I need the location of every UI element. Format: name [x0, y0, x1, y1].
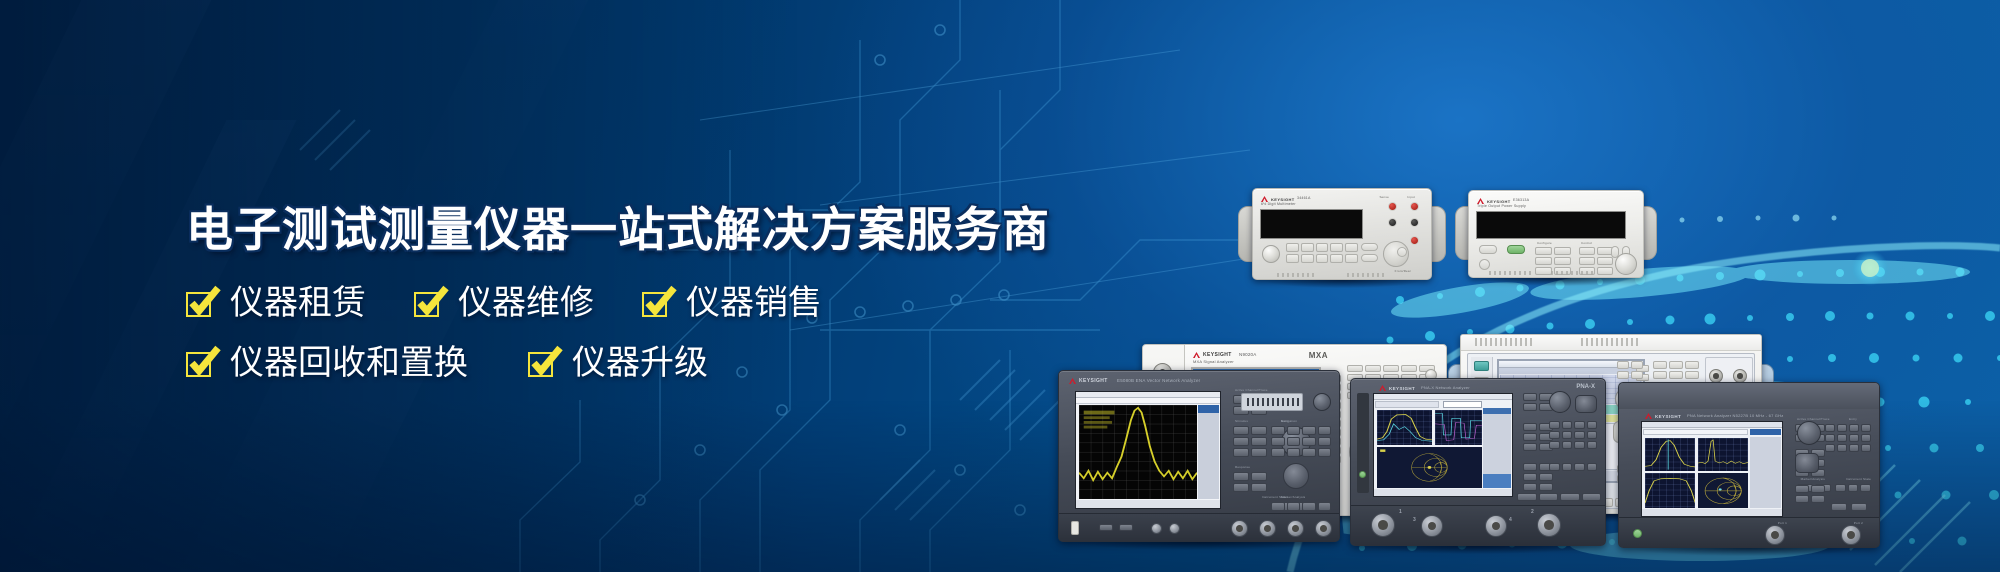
feature-label: 仪器维修 — [458, 286, 594, 320]
checkbox-checked-icon — [186, 289, 214, 317]
feature-row-1: 仪器租赁 仪器维修 仪器销售 — [186, 286, 1050, 320]
instrument-e5080b: KEYSIGHT E5080B ENA Vector Network Analy… — [1058, 370, 1340, 542]
checkbox-checked-icon — [528, 349, 556, 377]
feature-label: 仪器升级 — [572, 346, 708, 380]
page-title: 电子测试测量仪器一站式解决方案服务商 — [186, 206, 1050, 253]
feature-item-recycle-exchange[interactable]: 仪器回收和置换 — [186, 346, 468, 380]
checkbox-checked-icon — [186, 349, 214, 377]
feature-label: 仪器租赁 — [230, 286, 366, 320]
feature-row-2: 仪器回收和置换 仪器升级 — [186, 346, 1050, 380]
feature-item-rental[interactable]: 仪器租赁 — [186, 286, 366, 320]
instrument-power-supply: KEYSIGHT E36313A Triple Output Power Sup… — [1468, 190, 1644, 278]
instrument-digital-multimeter: KEYSIGHT 34461A 6½ Digit Multimeter Sens… — [1252, 188, 1432, 280]
hero-banner: KEYSIGHT 34461A 6½ Digit Multimeter Sens… — [0, 0, 2000, 572]
feature-list: 仪器租赁 仪器维修 仪器销售 — [186, 286, 1050, 380]
hero-text-block: 电子测试测量仪器一站式解决方案服务商 仪器租赁 仪器维修 — [186, 206, 1050, 380]
feature-item-repair[interactable]: 仪器维修 — [414, 286, 594, 320]
feature-item-sales[interactable]: 仪器销售 — [642, 286, 822, 320]
instrument-n5242b: KEYSIGHT PNA-X Network Analyzer PNA-X — [1350, 378, 1606, 546]
checkbox-checked-icon — [642, 289, 670, 317]
feature-label: 仪器回收和置换 — [230, 346, 468, 380]
feature-item-upgrade[interactable]: 仪器升级 — [528, 346, 708, 380]
checkbox-checked-icon — [414, 289, 442, 317]
feature-label: 仪器销售 — [686, 286, 822, 320]
instrument-n5227b: KEYSIGHT PNA Network Analyzer N5227B 10 … — [1618, 382, 1880, 548]
